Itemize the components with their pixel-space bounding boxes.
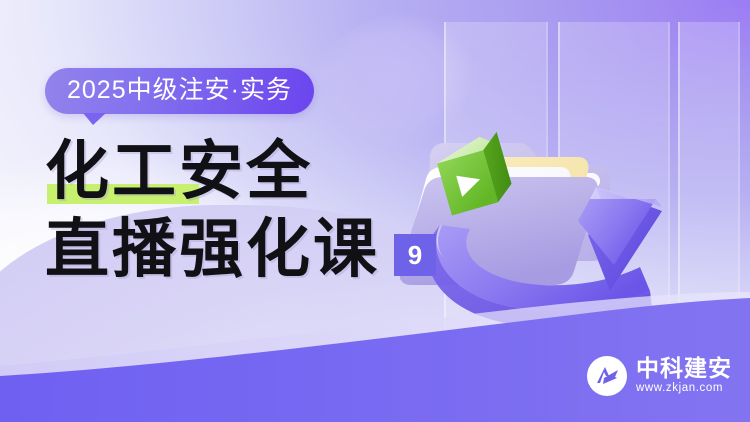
course-category-label: 2025中级注安·实务 [67, 78, 292, 103]
brand-url: www.zkjan.com [636, 383, 732, 395]
brand-text: 中科建安 www.zkjan.com [636, 358, 732, 395]
brand-name: 中科建安 [636, 358, 732, 381]
headline-line-2: 直播强化课 9 [45, 214, 475, 286]
headline-title-main: 化工安全 [45, 135, 313, 209]
episode-number-badge: 9 [394, 234, 436, 276]
headline-block: 2025中级注安·实务 化工安全 直播强化课 9 [45, 68, 475, 286]
course-category-badge: 2025中级注安·实务 [45, 68, 314, 114]
course-poster: 2025中级注安·实务 化工安全 直播强化课 9 中科建安 www.zkjan.… [0, 0, 750, 422]
headline-line-1: 化工安全 [45, 136, 475, 210]
brand-logo: 中科建安 www.zkjan.com [587, 356, 732, 396]
mountain-arrow-logo-icon [587, 356, 627, 396]
badge-tail [83, 113, 106, 125]
headline-title-sub: 直播强化课 [45, 214, 380, 286]
